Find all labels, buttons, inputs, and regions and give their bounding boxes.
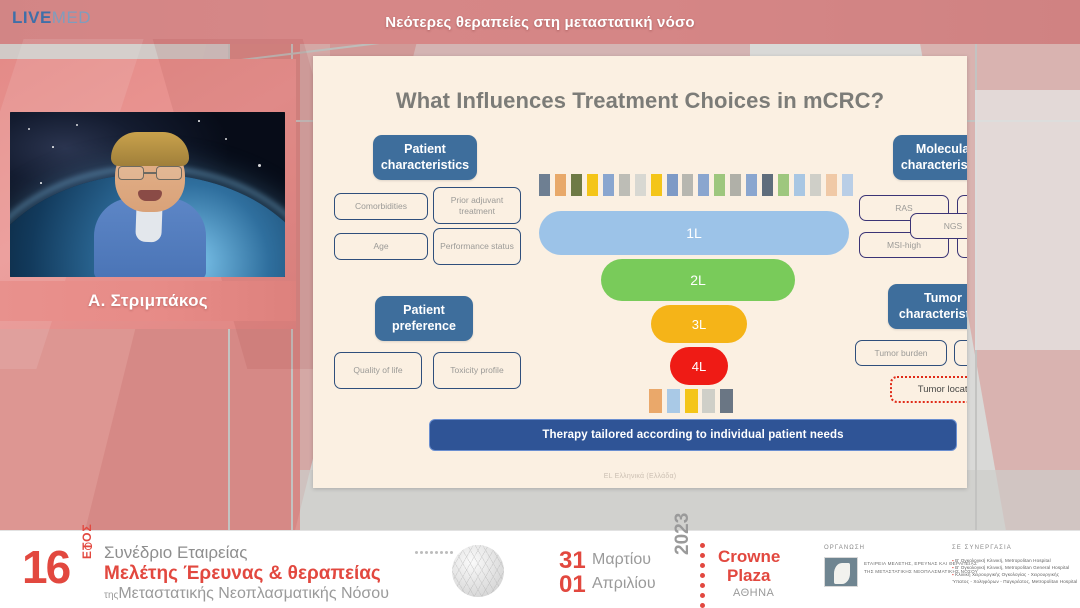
item-comorbidities[interactable]: Comorbidities [334,193,428,220]
patient-icon [649,389,662,413]
conference-line1: Συνέδριο Εταιρείας [104,543,247,563]
speaker-mouth [138,190,162,201]
venue-name-line1: Crowne [718,547,780,567]
patient-icon [539,174,550,196]
patient-icon [778,174,789,196]
patient-icon [730,174,741,196]
organizer-heading: ΟΡΓΑΝΩΣΗ [824,545,865,551]
star [225,138,227,140]
patient-icon [794,174,805,196]
patient-icon [667,174,678,196]
speaker-video-feed[interactable] [10,112,285,277]
patient-icon [746,174,757,196]
group-header-line1: Patient [404,142,446,156]
patient-icon [702,389,715,413]
group-header-tumor-characteristics[interactable]: Tumor characteristics [888,284,967,329]
venue-name-line2: Plaza [727,566,770,586]
slide-conclusion-text: Therapy tailored according to individual… [542,429,843,441]
conference-line3: τηςΜεταστατικής Νεοπλασματικής Νόσου [104,585,389,603]
item-performance-status[interactable]: Performance status [433,228,521,265]
funnel-stage-2l[interactable]: 2L [601,259,795,301]
patient-icon [603,174,614,196]
conference-year: 2023 [672,513,694,555]
patient-icon [810,174,821,196]
group-header-line2: preference [392,319,456,333]
patient-icon [698,174,709,196]
conference-line3-main: Μεταστατικής Νεοπλασματικής Νόσου [118,585,389,602]
group-header-line1: Molecular [916,142,967,156]
conference-footer: 16 O ΕΤΟΣ Συνέδριο Εταιρείας Μελέτης Έρε… [0,530,1080,608]
funnel-stage-3l[interactable]: 3L [651,305,747,343]
star [76,124,78,126]
conference-number: 16 [22,544,69,590]
patient-icon [571,174,582,196]
collaboration-item: Β' Ογκολογική Κλινική, Metropolitan Hosp… [952,557,1078,564]
speaker-name-plate: Α. Στριμπάκος [0,281,296,321]
group-header-line2: characteristics [381,158,469,172]
item-quality-of-life[interactable]: Quality of life [334,352,422,389]
conference-etos-label: ΕΤΟΣ [80,523,94,559]
footer-dot-divider [700,543,706,599]
speaker-name: Α. Στριμπάκος [88,291,208,311]
venue-city: ΑΘΗΝΑ [733,587,774,599]
group-header-patient-characteristics[interactable]: Patient characteristics [373,135,477,180]
star [52,146,54,148]
collaboration-item: Ύπατος - Χοληφόρων - Παγκρέατος, Metropo… [952,578,1078,585]
presentation-slide[interactable]: What Influences Treatment Choices in mCR… [313,56,967,488]
item-prior-adjuvant-treatment[interactable]: Prior adjuvant treatment [433,187,521,224]
item-tumor-location[interactable]: Tumor location [890,376,967,403]
group-header-line1: Patient [403,303,445,317]
item-tumor-burden[interactable]: Tumor burden [855,340,947,366]
collaboration-list: Β' Ογκολογική Κλινική, Metropolitan Hosp… [952,557,1078,585]
conference-month-2: Απριλίου [592,575,656,593]
group-header-patient-preference[interactable]: Patient preference [375,296,473,341]
group-header-line2: characteristics [901,158,967,172]
collaboration-item: Β' Ογκολογική Κλινική, Metropolitan Gene… [952,564,1078,571]
star [258,164,261,167]
group-header-line1: Tumor [924,291,962,305]
collaboration-item: Κλινική Χειρουργικής Ογκολογίας - Χειρου… [952,571,1078,578]
slide-language-note: EL Ελληνικά (Ελλάδα) [313,473,967,480]
item-toxicity-profile[interactable]: Toxicity profile [433,352,521,389]
group-header-line2: characteristics [899,307,967,321]
patients-top-row [539,174,853,196]
conference-day-2: 01 [559,571,586,599]
patient-icon [619,174,630,196]
patient-icon [667,389,680,413]
patient-icon [682,174,693,196]
patient-icon [842,174,853,196]
patient-icon [635,174,646,196]
organizer-logo [824,557,858,587]
conference-line2: Μελέτης Έρευνας & θεραπείας [104,563,381,585]
conference-month-1: Μαρτίου [592,551,651,569]
session-title: Νεότερες θεραπείες στη μεταστατική νόσο [0,0,1080,44]
glasses-lens-right [156,166,182,180]
patient-icon [720,389,733,413]
bg-shape-grey-right-panel [975,90,1080,350]
patients-bottom-row [649,389,733,413]
patient-icon [651,174,662,196]
patient-icon [587,174,598,196]
speaker-hair [111,132,189,166]
glasses-bridge [144,172,156,174]
speaker-glasses [118,166,182,180]
funnel-stage-1l[interactable]: 1L [539,211,849,255]
slide-conclusion-banner: Therapy tailored according to individual… [429,419,957,451]
livemed-logo-live: LIVE [12,8,52,27]
livemed-logo[interactable]: LIVEMED [12,8,91,28]
item-resectability[interactable]: Resectability [954,340,967,366]
item-age[interactable]: Age [334,233,428,260]
patient-icon [685,389,698,413]
patient-icon [555,174,566,196]
screen: LIVEMED Νεότερες θεραπείες στη μεταστατι… [0,0,1080,608]
patient-icon [714,174,725,196]
patient-icon [826,174,837,196]
star [198,120,200,122]
star [28,128,30,130]
collaboration-heading: ΣΕ ΣΥΝΕΡΓΑΣΙΑ [952,545,1012,551]
group-header-molecular-characteristics[interactable]: Molecular characteristics [893,135,967,180]
star [40,182,42,184]
slide-title: What Influences Treatment Choices in mCR… [313,88,967,114]
leaf-icon [834,563,850,584]
footer-dot-divider-left [415,547,475,593]
conference-line3-prefix: της [104,590,118,601]
glasses-lens-left [118,166,144,180]
funnel-stage-4l[interactable]: 4L [670,347,728,385]
item-ngs[interactable]: NGS [910,213,967,239]
livemed-logo-med: MED [52,8,91,27]
patient-icon [762,174,773,196]
